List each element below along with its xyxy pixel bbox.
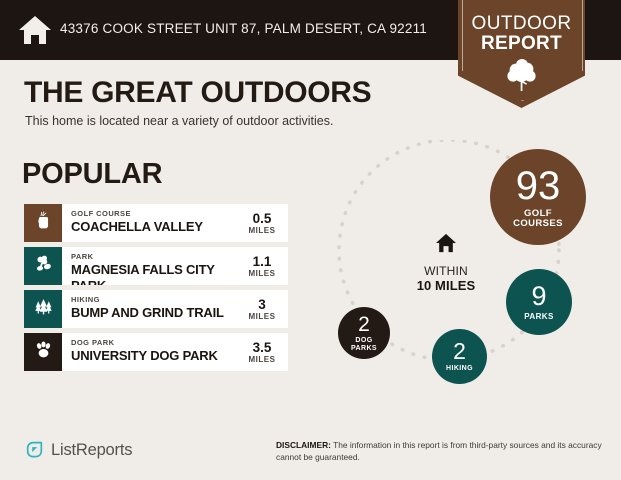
pine-trees-icon <box>33 296 54 322</box>
row-distance-value: 3.5 <box>236 340 288 355</box>
row-category: DOG PARK <box>71 338 236 347</box>
row-icon-swatch <box>24 290 62 328</box>
listreports-logo[interactable]: ListReports <box>24 440 132 461</box>
tree-icon <box>504 58 540 94</box>
list-item[interactable]: DOG PARK UNIVERSITY DOG PARK 3.5 MILES <box>24 333 288 371</box>
diagram-center: WITHIN 10 MILES <box>404 233 488 293</box>
stat-label-line1: DOG <box>355 337 372 344</box>
house-icon <box>18 14 52 46</box>
row-distance-unit: MILES <box>236 312 288 321</box>
outdoor-report-page: 43376 COOK STREET UNIT 87, PALM DESERT, … <box>0 0 621 480</box>
row-text: HIKING BUMP AND GRIND TRAIL <box>62 290 236 328</box>
row-icon-swatch <box>24 247 62 285</box>
center-line2: 10 MILES <box>404 278 488 293</box>
row-category: HIKING <box>71 295 236 304</box>
page-title: THE GREAT OUTDOORS <box>24 76 371 110</box>
row-text: DOG PARK UNIVERSITY DOG PARK <box>62 333 236 371</box>
listreports-logo-icon <box>24 440 45 461</box>
list-item[interactable]: HIKING BUMP AND GRIND TRAIL 3 MILES <box>24 290 288 328</box>
row-name: MAGNESIA FALLS CITY PARK <box>71 262 236 285</box>
stat-label-line1: HIKING <box>446 365 473 372</box>
row-text: GOLF COURSE COACHELLA VALLEY <box>62 204 236 242</box>
property-address: 43376 COOK STREET UNIT 87, PALM DESERT, … <box>60 21 427 36</box>
page-subtitle: This home is located near a variety of o… <box>25 114 333 128</box>
row-distance-unit: MILES <box>236 355 288 364</box>
row-text: PARK MAGNESIA FALLS CITY PARK <box>62 247 236 285</box>
list-item[interactable]: PARK MAGNESIA FALLS CITY PARK 1.1 MILES <box>24 247 288 285</box>
badge-line2: REPORT <box>458 33 585 55</box>
stat-count: 2 <box>453 340 466 363</box>
row-distance-unit: MILES <box>236 269 288 278</box>
stat-circle-dog-parks[interactable]: 2 DOG PARKS <box>338 307 390 359</box>
stat-circle-hiking[interactable]: 2 HIKING <box>432 329 487 384</box>
stat-label-line1: PARKS <box>524 313 553 321</box>
stat-count: 93 <box>516 166 561 206</box>
paw-print-icon <box>33 339 54 365</box>
list-item[interactable]: GOLF COURSE COACHELLA VALLEY 0.5 MILES <box>24 204 288 242</box>
stat-label-line1: GOLF <box>524 209 552 219</box>
row-category: GOLF COURSE <box>71 209 236 218</box>
tree-park-icon <box>33 253 54 279</box>
house-icon <box>435 240 457 257</box>
row-distance-unit: MILES <box>236 226 288 235</box>
row-distance: 1.1 MILES <box>236 247 288 285</box>
popular-list: GOLF COURSE COACHELLA VALLEY 0.5 MILES <box>24 204 288 376</box>
stat-label-line2: COURSES <box>513 219 563 229</box>
row-icon-swatch <box>24 333 62 371</box>
disclaimer: DISCLAIMER: The information in this repo… <box>276 440 606 463</box>
row-name: BUMP AND GRIND TRAIL <box>71 305 236 321</box>
row-category: PARK <box>71 252 236 261</box>
golf-bag-icon <box>33 210 54 236</box>
stat-count: 2 <box>358 314 370 335</box>
row-distance: 0.5 MILES <box>236 204 288 242</box>
row-distance: 3 MILES <box>236 290 288 328</box>
stat-count: 9 <box>531 283 546 310</box>
listreports-logo-text: ListReports <box>51 441 132 460</box>
stat-label-line2: PARKS <box>351 345 377 352</box>
badge-line1: OUTDOOR <box>458 13 585 35</box>
center-line1: WITHIN <box>404 264 488 278</box>
within-10-miles-diagram: 93 GOLF COURSES 9 PARKS 2 HIKING 2 DOG P… <box>322 140 621 405</box>
disclaimer-label: DISCLAIMER: <box>276 440 331 450</box>
row-distance: 3.5 MILES <box>236 333 288 371</box>
row-distance-value: 0.5 <box>236 211 288 226</box>
row-name: UNIVERSITY DOG PARK <box>71 348 236 364</box>
row-icon-swatch <box>24 204 62 242</box>
stat-circle-parks[interactable]: 9 PARKS <box>506 269 572 335</box>
row-distance-value: 1.1 <box>236 254 288 269</box>
stat-circle-golf-courses[interactable]: 93 GOLF COURSES <box>490 149 586 245</box>
row-name: COACHELLA VALLEY <box>71 219 236 235</box>
popular-heading: POPULAR <box>22 158 162 191</box>
row-distance-value: 3 <box>236 297 288 312</box>
